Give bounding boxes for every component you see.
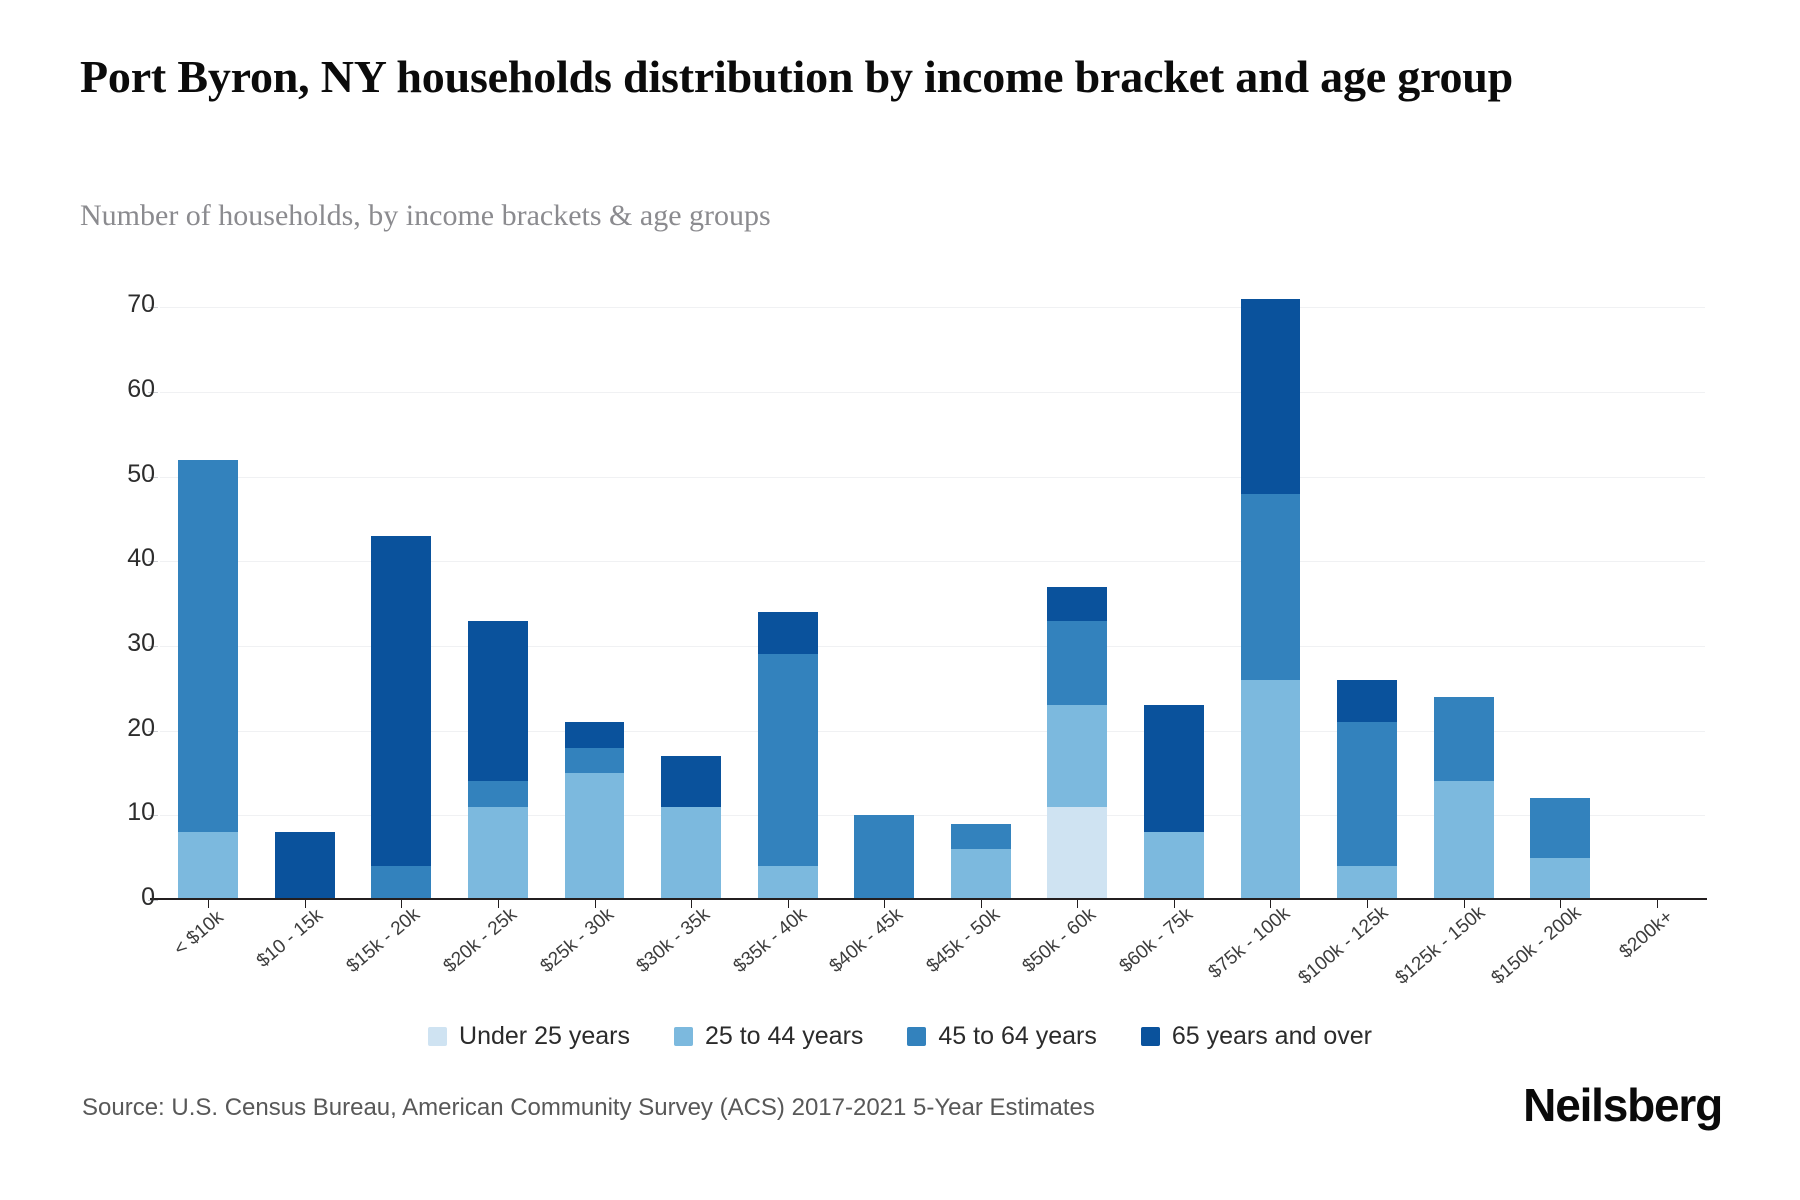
legend-item[interactable]: Under 25 years [428,1022,630,1051]
x-tick-mark [691,900,692,908]
x-tick-mark [208,900,209,908]
bar-segment[interactable] [854,815,914,900]
bar-segment[interactable] [468,807,528,900]
x-tick-mark [1270,900,1271,908]
bar-segment[interactable] [661,807,721,900]
bar-slot[interactable] [933,265,1030,900]
bar-segment[interactable] [1047,705,1107,807]
bar-slot[interactable] [1029,265,1126,900]
bar-segment[interactable] [1241,494,1301,680]
bar-segment[interactable] [1337,866,1397,900]
x-tick-mark [401,900,402,908]
bar-segment[interactable] [178,460,238,833]
bar-segment[interactable] [1241,299,1301,494]
bar-slot[interactable] [546,265,643,900]
bar-segment[interactable] [371,866,431,900]
x-tick-label: $15k - 20k [343,904,425,978]
x-tick-label: $45k - 50k [922,904,1004,978]
y-tick-label: 70 [95,290,155,319]
bar-slot[interactable] [1608,265,1705,900]
stacked-bar[interactable] [275,832,335,900]
y-tick-label: 10 [95,798,155,827]
stacked-bar[interactable] [565,722,625,900]
bar-segment[interactable] [951,824,1011,849]
chart-page: Port Byron, NY households distribution b… [0,0,1800,1200]
x-axis-line [150,898,1707,900]
stacked-bar[interactable] [1434,697,1494,900]
x-tick-label: $50k - 60k [1019,904,1101,978]
bar-slot[interactable] [1319,265,1416,900]
x-tick-label: $200k+ [1615,906,1677,963]
x-tick-mark [788,900,789,908]
bar-segment[interactable] [1337,722,1397,866]
y-tick-label: 60 [95,375,155,404]
legend-swatch-icon [674,1027,693,1046]
bar-segment[interactable] [565,773,625,900]
brand-logo: Neilsberg [1523,1078,1722,1132]
stacked-bar[interactable] [1241,299,1301,900]
chart-canvas: 010203040506070 < $10k$10 - 15k$15k - 20… [0,0,1800,1200]
bar-segment[interactable] [1144,705,1204,832]
bar-segment[interactable] [468,621,528,782]
x-tick-label: < $10k [170,907,228,961]
bar-segment[interactable] [661,756,721,807]
legend-swatch-icon [1141,1027,1160,1046]
stacked-bar[interactable] [1047,587,1107,900]
bar-slot[interactable] [353,265,450,900]
x-tick-mark [1560,900,1561,908]
x-tick-mark [1367,900,1368,908]
bar-slot[interactable] [257,265,354,900]
bar-slot[interactable] [160,265,257,900]
bar-segment[interactable] [1434,781,1494,900]
x-tick-mark [884,900,885,908]
bar-slot[interactable] [643,265,740,900]
legend-label: Under 25 years [459,1022,630,1051]
bar-segment[interactable] [178,832,238,900]
chart-legend: Under 25 years25 to 44 years45 to 64 yea… [0,1022,1800,1051]
legend-item[interactable]: 25 to 44 years [674,1022,863,1051]
x-tick-label: $60k - 75k [1115,904,1197,978]
bar-slot[interactable] [836,265,933,900]
bar-segment[interactable] [468,781,528,806]
x-tick-label: $35k - 40k [729,904,811,978]
y-tick-label: 20 [95,714,155,743]
x-tick-label: $30k - 35k [633,904,715,978]
stacked-bar[interactable] [661,756,721,900]
stacked-bar[interactable] [178,460,238,900]
y-tick-label: 40 [95,544,155,573]
x-tick-mark [498,900,499,908]
x-tick-mark [305,900,306,908]
bar-segment[interactable] [951,849,1011,900]
x-tick-mark [1464,900,1465,908]
bar-segment[interactable] [1530,798,1590,857]
x-tick-label: $20k - 25k [440,904,522,978]
bar-segment[interactable] [1241,680,1301,900]
stacked-bar[interactable] [854,815,914,900]
bar-segment[interactable] [758,612,818,654]
y-tick-label: 30 [95,629,155,658]
bar-segment[interactable] [1047,621,1107,706]
legend-label: 45 to 64 years [938,1022,1096,1051]
source-note: Source: U.S. Census Bureau, American Com… [82,1094,1095,1122]
bar-segment[interactable] [275,832,335,900]
bar-segment[interactable] [1047,807,1107,900]
bar-segment[interactable] [758,654,818,866]
stacked-bar[interactable] [758,612,818,900]
stacked-bar[interactable] [1530,798,1590,900]
bar-slot[interactable] [1222,265,1319,900]
bar-slot[interactable] [1126,265,1223,900]
legend-swatch-icon [907,1027,926,1046]
legend-item[interactable]: 45 to 64 years [907,1022,1096,1051]
stacked-bar[interactable] [468,621,528,900]
bar-slot[interactable] [1512,265,1609,900]
bar-segment[interactable] [371,536,431,866]
bar-segment[interactable] [565,748,625,773]
stacked-bar[interactable] [951,824,1011,900]
legend-item[interactable]: 65 years and over [1141,1022,1372,1051]
stacked-bar[interactable] [1144,705,1204,900]
stacked-bar[interactable] [1337,680,1397,900]
bar-slot[interactable] [739,265,836,900]
plot-area [160,265,1705,900]
y-tick-label: 0 [95,883,155,912]
bar-group [160,265,1705,900]
bar-slot[interactable] [450,265,547,900]
bar-segment[interactable] [1144,832,1204,900]
bar-segment[interactable] [1530,858,1590,900]
legend-swatch-icon [428,1027,447,1046]
legend-label: 65 years and over [1172,1022,1372,1051]
bar-slot[interactable] [1415,265,1512,900]
x-tick-label: $40k - 45k [826,904,908,978]
x-tick-mark [1174,900,1175,908]
x-tick-mark [595,900,596,908]
bar-segment[interactable] [1434,697,1494,782]
x-tick-mark [1077,900,1078,908]
bar-segment[interactable] [1337,680,1397,722]
x-tick-label: $10 - 15k [253,905,328,973]
bar-segment[interactable] [565,722,625,747]
stacked-bar[interactable] [371,536,431,900]
x-tick-mark [981,900,982,908]
y-tick-label: 50 [95,460,155,489]
bar-segment[interactable] [758,866,818,900]
legend-label: 25 to 44 years [705,1022,863,1051]
x-tick-label: $25k - 30k [536,904,618,978]
bar-segment[interactable] [1047,587,1107,621]
x-tick-mark [1657,900,1658,908]
